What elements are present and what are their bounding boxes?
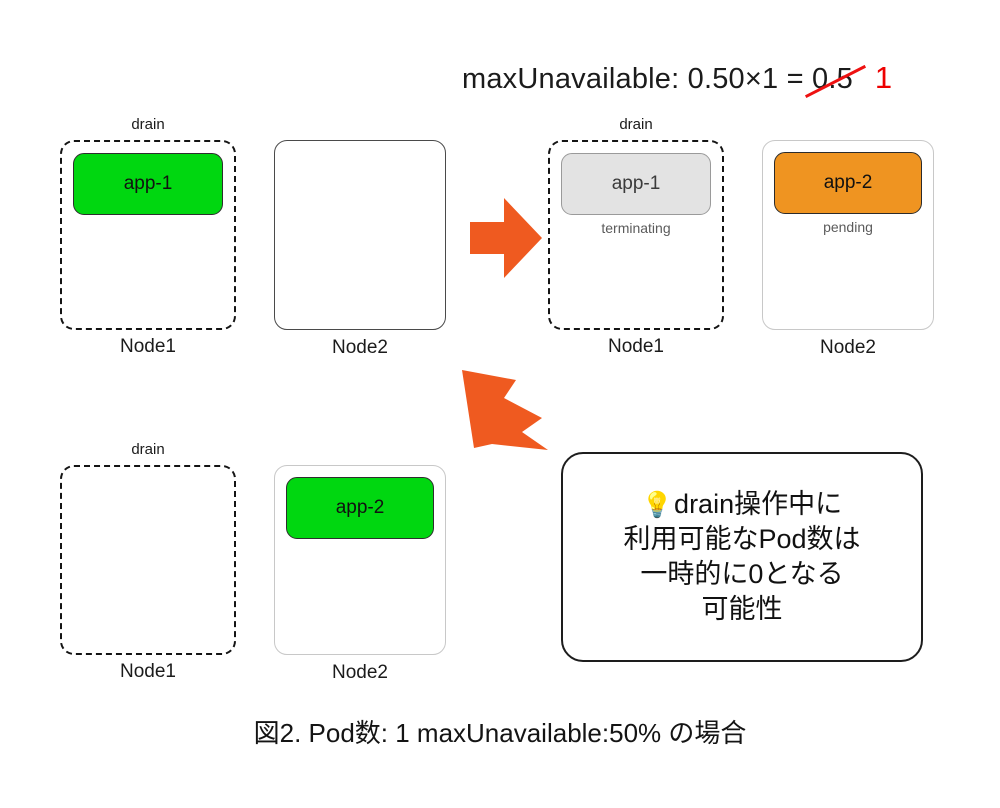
node-label: Node2	[763, 337, 933, 359]
pod-app-2-running[interactable]: app-2	[286, 477, 434, 539]
note-line-1-text: drain操作中に	[674, 489, 842, 519]
node-label: Node1	[62, 336, 234, 358]
pod-label: app-1	[612, 173, 661, 195]
node-top-left-node2[interactable]: Node2	[274, 140, 446, 330]
node-label: Node2	[275, 662, 445, 684]
formula-prefix: maxUnavailable: 0.50×1 =	[462, 63, 812, 95]
formula-correction: 1	[875, 60, 892, 95]
node-label: Node1	[550, 336, 722, 358]
diagram-canvas: maxUnavailable: 0.50×1 = 0.51 drain app-…	[0, 0, 1000, 808]
node-label: Node1	[62, 661, 234, 683]
note-line-2: 利用可能なPod数は	[623, 522, 860, 557]
right-arrow-icon	[466, 196, 546, 285]
pod-app-1-running[interactable]: app-1	[73, 153, 223, 215]
node-top-right-node2[interactable]: app-2 pending Node2	[762, 140, 934, 330]
lightbulb-icon: 💡	[642, 491, 673, 519]
note-box: 💡drain操作中に 利用可能なPod数は 一時的に0となる 可能性	[561, 452, 923, 662]
pod-app-2-pending[interactable]: app-2	[774, 152, 922, 214]
node-label: Node2	[275, 337, 445, 359]
note-line-4: 可能性	[702, 592, 783, 627]
node-top-left-node1[interactable]: drain app-1 Node1	[60, 140, 236, 330]
figure-caption: 図2. Pod数: 1 maxUnavailable:50% の場合	[0, 713, 1000, 750]
node-bottom-left-node2[interactable]: app-2 Node2	[274, 465, 446, 655]
drain-label: drain	[550, 116, 722, 133]
pod-label: app-1	[124, 173, 173, 195]
formula-header: maxUnavailable: 0.50×1 = 0.51	[462, 60, 892, 96]
drain-label: drain	[62, 116, 234, 133]
pod-label: app-2	[824, 172, 873, 194]
pod-label: app-2	[336, 497, 385, 519]
drain-label: drain	[62, 441, 234, 458]
pod-status-pending: pending	[763, 219, 933, 235]
pod-status-terminating: terminating	[550, 220, 722, 236]
up-left-arrow-icon	[452, 364, 556, 465]
node-bottom-left-node1[interactable]: drain Node1	[60, 465, 236, 655]
note-line-3: 一時的に0となる	[640, 557, 843, 592]
node-top-right-node1[interactable]: drain app-1 terminating Node1	[548, 140, 724, 330]
pod-app-1-terminating[interactable]: app-1	[561, 153, 711, 215]
formula-struck-value: 0.5	[812, 63, 853, 96]
note-line-1: 💡drain操作中に	[642, 487, 842, 522]
